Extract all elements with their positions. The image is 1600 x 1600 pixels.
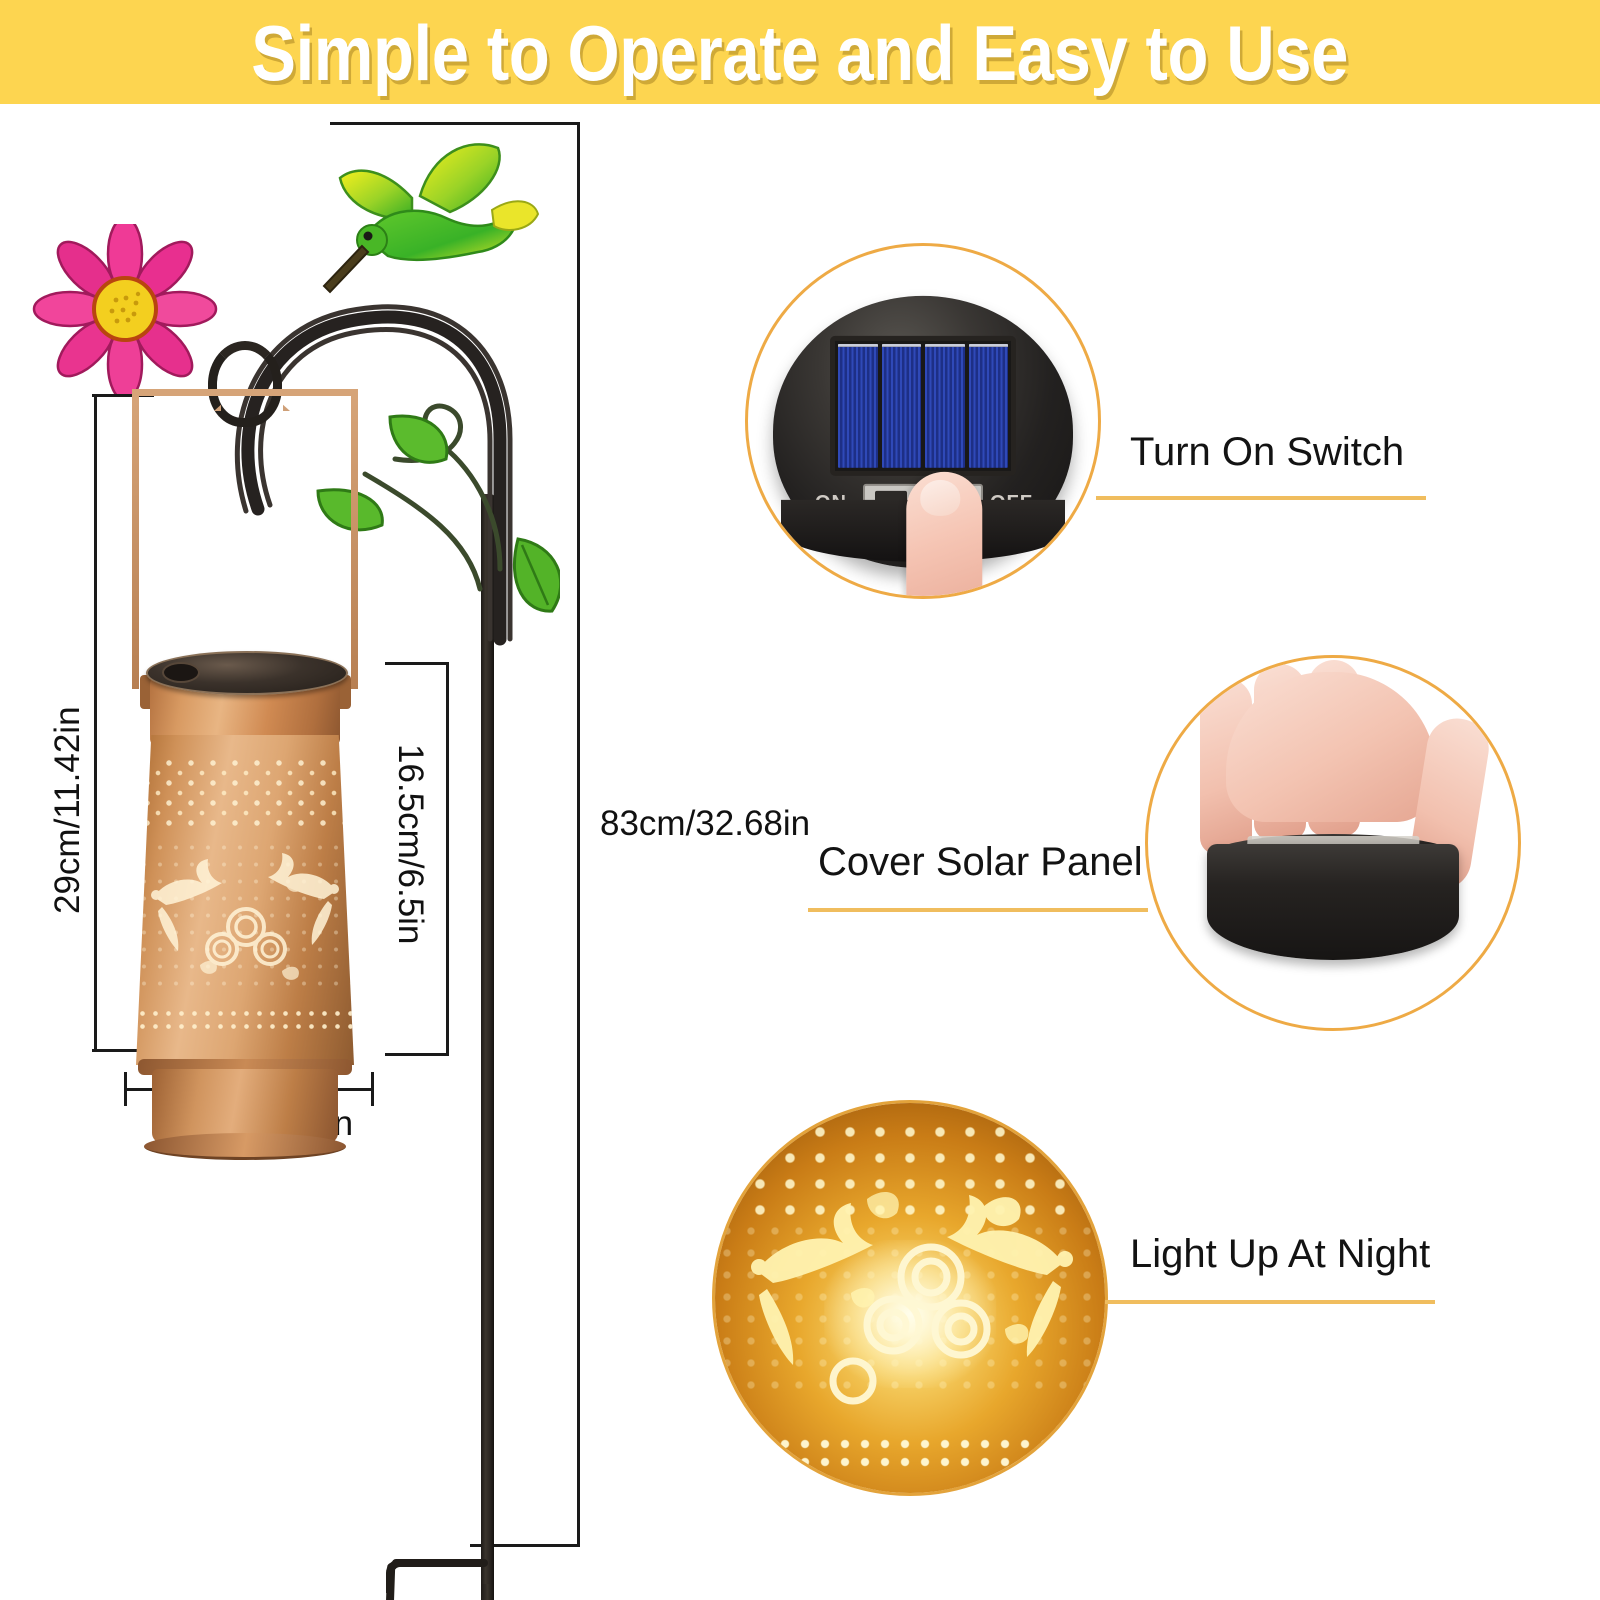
dim-29-label: 29cm/11.42in [48, 706, 88, 914]
product-illustration-panel: 83cm/32.68in 16.5cm/6.5in 29cm/11.42in 1… [0, 104, 760, 1600]
callout-label-turn-on-switch: Turn On Switch [1130, 430, 1404, 475]
dim-165-line [446, 662, 449, 1056]
callout-line-cover-solar-panel [808, 908, 1148, 912]
solar-lantern [110, 379, 380, 1069]
lantern-handle [132, 389, 358, 689]
dim-29-line [94, 394, 97, 1052]
pointing-finger-icon [906, 472, 982, 599]
callout-label-cover-solar-panel: Cover Solar Panel [818, 840, 1143, 885]
callout-label-light-up-at-night: Light Up At Night [1130, 1232, 1430, 1277]
callout-light-up-at-night-image [712, 1100, 1108, 1496]
dim-11-right-tick [371, 1072, 374, 1106]
flower-ornament-icon [30, 224, 215, 384]
leaf-icon [390, 416, 447, 462]
leaf-icon [514, 539, 560, 611]
dim-83-label: 83cm/32.68in [600, 804, 810, 844]
covering-hand-icon [1148, 658, 1518, 1028]
lantern-solar-cap [146, 651, 348, 695]
hummingbird-ornament-icon [300, 134, 520, 324]
header-banner: Simple to Operate and Easy to Use [0, 0, 1600, 104]
dim-165-top-tick [385, 662, 449, 665]
dim-83-top-tick [330, 122, 580, 125]
infographic-canvas: Simple to Operate and Easy to Use 83cm/3… [0, 0, 1600, 1600]
dim-165-label: 16.5cm/6.5in [390, 744, 430, 944]
lantern-cutout-motifs [136, 831, 354, 1011]
lantern-base [152, 1069, 338, 1143]
callout-cover-solar-panel-image [1145, 655, 1521, 1031]
dim-83-line [577, 122, 580, 1547]
stake-foot-step [378, 1559, 488, 1600]
illuminated-cutout-motifs [715, 1103, 1105, 1493]
solar-module-disc: ON OFF [773, 296, 1073, 568]
solar-panel [830, 336, 1016, 476]
lantern-body [136, 735, 354, 1065]
lantern-foot [144, 1133, 346, 1160]
callout-turn-on-switch-image: ON OFF [745, 243, 1101, 599]
dim-165-bottom-tick [385, 1053, 449, 1056]
callout-line-turn-on-switch [1096, 496, 1426, 500]
illuminated-lantern [715, 1103, 1105, 1493]
page-title: Simple to Operate and Easy to Use [252, 14, 1349, 92]
shepherd-hook-pole [481, 494, 494, 1600]
callout-line-light-up-at-night [1105, 1300, 1435, 1304]
